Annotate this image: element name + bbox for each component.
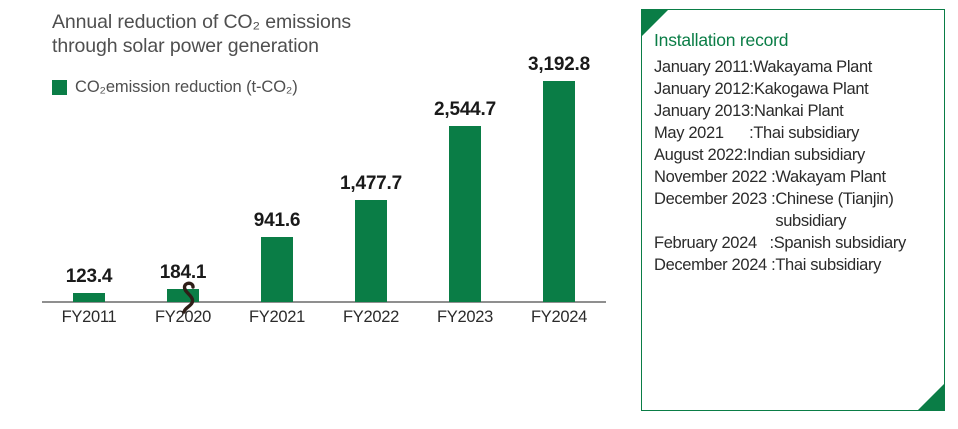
x-axis-label-FY2022: FY2022 — [343, 308, 399, 327]
record-list: January 2011:Wakayama PlantJanuary 2012:… — [654, 56, 936, 276]
record-place: Wakayam Plant — [775, 166, 936, 188]
record-list-item: November 2022 :Wakayam Plant — [654, 166, 936, 188]
record-date: January 2013 — [654, 100, 750, 122]
installation-record-panel: Installation record January 2011:Wakayam… — [641, 9, 945, 411]
record-date: February 2024 — [654, 232, 757, 254]
bar-FY2023 — [449, 126, 481, 302]
record-list-item: December 2024 :Thai subsidiary — [654, 254, 936, 276]
bar-value-label: 123.4 — [66, 266, 113, 288]
record-date: January 2011 — [654, 56, 749, 78]
x-axis-label-FY2024: FY2024 — [531, 308, 587, 327]
record-place: Nankai Plant — [754, 100, 936, 122]
record-list-item: February 2024 :Spanish subsidiary — [654, 232, 936, 254]
bar-slot: 123.4FY2011 — [42, 0, 136, 302]
bar-value-label: 1,477.7 — [340, 173, 402, 195]
record-content: Installation record January 2011:Wakayam… — [654, 30, 936, 276]
x-axis-label-FY2023: FY2023 — [437, 308, 493, 327]
bar-FY2022 — [355, 200, 387, 302]
bar-slot: 941.6FY2021 — [230, 0, 324, 302]
screenshot-root: Annual reduction of CO₂ emissions throug… — [0, 0, 958, 429]
bar-FY2021 — [261, 237, 293, 302]
record-heading: Installation record — [654, 30, 936, 51]
record-list-item: January 2012:Kakogawa Plant — [654, 78, 936, 100]
x-axis-label-FY2011: FY2011 — [62, 308, 117, 327]
record-place: Kakogawa Plant — [754, 78, 936, 100]
bar-FY2011 — [73, 293, 105, 302]
record-place: Thai subsidiary — [775, 254, 936, 276]
corner-triangle-bottom-right-icon — [918, 384, 944, 410]
record-separator: : — [767, 254, 775, 276]
plot-area: 123.4FY2011184.1FY2020941.6FY20211,477.7… — [42, 0, 608, 429]
bar-FY2024 — [543, 81, 575, 302]
record-place: Chinese (Tianjin) subsidiary — [775, 188, 936, 232]
record-date: November 2022 — [654, 166, 767, 188]
record-place: Thai subsidiary — [753, 122, 936, 144]
record-separator: : — [724, 122, 754, 144]
axis-break-icon — [176, 279, 202, 319]
record-separator: : — [767, 188, 775, 210]
bar-slot: 3,192.8FY2024 — [512, 0, 606, 302]
record-date: January 2012 — [654, 78, 750, 100]
bar-slot: 184.1FY2020 — [136, 0, 230, 302]
record-date: August 2022 — [654, 144, 743, 166]
record-date: December 2023 — [654, 188, 767, 210]
bar-slot: 2,544.7FY2023 — [418, 0, 512, 302]
record-list-item: January 2011:Wakayama Plant — [654, 56, 936, 78]
record-date: December 2024 — [654, 254, 767, 276]
bar-series: 123.4FY2011184.1FY2020941.6FY20211,477.7… — [42, 0, 606, 302]
record-separator: : — [757, 232, 774, 254]
record-separator: : — [767, 166, 775, 188]
x-axis-label-FY2021: FY2021 — [249, 308, 305, 327]
record-place: Indian subsidiary — [747, 144, 936, 166]
record-place: Spanish subsidiary — [774, 232, 936, 254]
record-place: Wakayama Plant — [753, 56, 936, 78]
bar-value-label: 941.6 — [254, 210, 301, 232]
record-list-item: December 2023 :Chinese (Tianjin) subsidi… — [654, 188, 936, 232]
record-list-item: August 2022:Indian subsidiary — [654, 144, 936, 166]
bar-value-label: 3,192.8 — [528, 54, 590, 76]
bar-value-label: 2,544.7 — [434, 99, 496, 121]
bar-slot: 1,477.7FY2022 — [324, 0, 418, 302]
chart-panel: Annual reduction of CO₂ emissions throug… — [0, 0, 628, 429]
record-list-item: January 2013:Nankai Plant — [654, 100, 936, 122]
record-date: May 2021 — [654, 122, 724, 144]
record-list-item: May 2021 :Thai subsidiary — [654, 122, 936, 144]
